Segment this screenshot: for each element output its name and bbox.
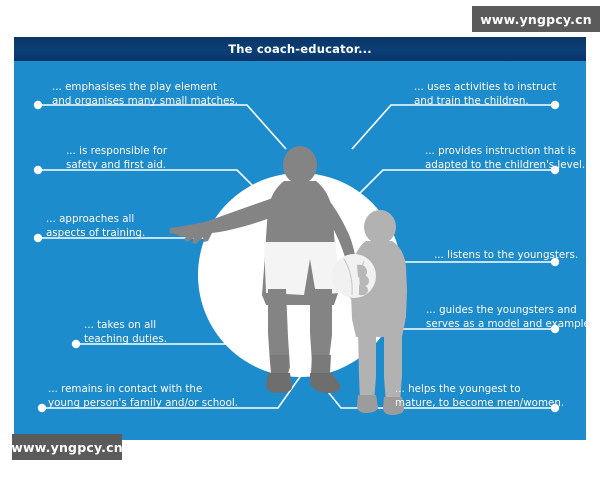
callout-contact-family: ... remains in contact with the young pe… — [48, 383, 238, 410]
callout-line-2: and organises many small matches. — [52, 95, 238, 109]
infographic-panel: The coach-educator... — [14, 37, 586, 440]
callout-line-1: ... listens to the youngsters. — [434, 249, 578, 263]
dot-approaches-training — [34, 234, 42, 242]
callout-line-1: ... helps the youngest to — [395, 383, 564, 397]
callout-line-1: ... provides instruction that is — [425, 145, 585, 159]
dot-teaching-duties — [72, 340, 80, 348]
callout-teaching-duties: ... takes on all teaching duties. — [84, 319, 167, 346]
connector-uses-activities — [352, 105, 555, 149]
callout-line-2: mature, to become men/women. — [395, 397, 564, 411]
callout-line-1: ... takes on all — [84, 319, 167, 333]
callout-line-2: aspects of training. — [46, 227, 145, 241]
dot-emphasises-play — [34, 101, 42, 109]
callout-line-1: ... approaches all — [46, 213, 145, 227]
callout-line-2: young person's family and/or school. — [48, 397, 238, 411]
callout-uses-activities: ... uses activities to instruct and trai… — [414, 81, 557, 108]
callout-line-1: ... is responsible for — [66, 145, 167, 159]
callout-line-2: safety and first aid. — [66, 159, 167, 173]
watermark-top: www.yngpcy.cn — [472, 6, 600, 32]
connector-emphasises-play — [38, 105, 286, 149]
callout-responsible-safety: ... is responsible for safety and first … — [66, 145, 167, 172]
callout-line-2: adapted to the children's level. — [425, 159, 585, 173]
callout-line-2: and train the children. — [414, 95, 557, 109]
callout-emphasises-play: ... emphasises the play element and orga… — [52, 81, 238, 108]
callout-provides-instruction: ... provides instruction that is adapted… — [425, 145, 585, 172]
dot-contact-family — [38, 404, 46, 412]
callout-line-1: ... emphasises the play element — [52, 81, 238, 95]
callout-helps-mature: ... helps the youngest to mature, to bec… — [395, 383, 564, 410]
callout-approaches-training: ... approaches all aspects of training. — [46, 213, 145, 240]
coach-shorts — [264, 242, 339, 295]
callout-guides-youngsters: ... guides the youngsters and serves as … — [426, 304, 586, 331]
watermark-bottom: www.yngpcy.cn — [12, 434, 122, 460]
ball — [332, 254, 376, 298]
callout-line-1: ... guides the youngsters and — [426, 304, 586, 318]
callout-line-1: ... uses activities to instruct — [414, 81, 557, 95]
callout-listens-youngsters: ... listens to the youngsters. — [434, 249, 578, 263]
diagram-stage: www.yngpcy.cn The coach-educator... — [0, 0, 600, 480]
callout-line-1: ... remains in contact with the — [48, 383, 238, 397]
callout-line-2: teaching duties. — [84, 333, 167, 347]
callout-line-2: serves as a model and example. — [426, 318, 586, 332]
dot-responsible-safety — [34, 166, 42, 174]
